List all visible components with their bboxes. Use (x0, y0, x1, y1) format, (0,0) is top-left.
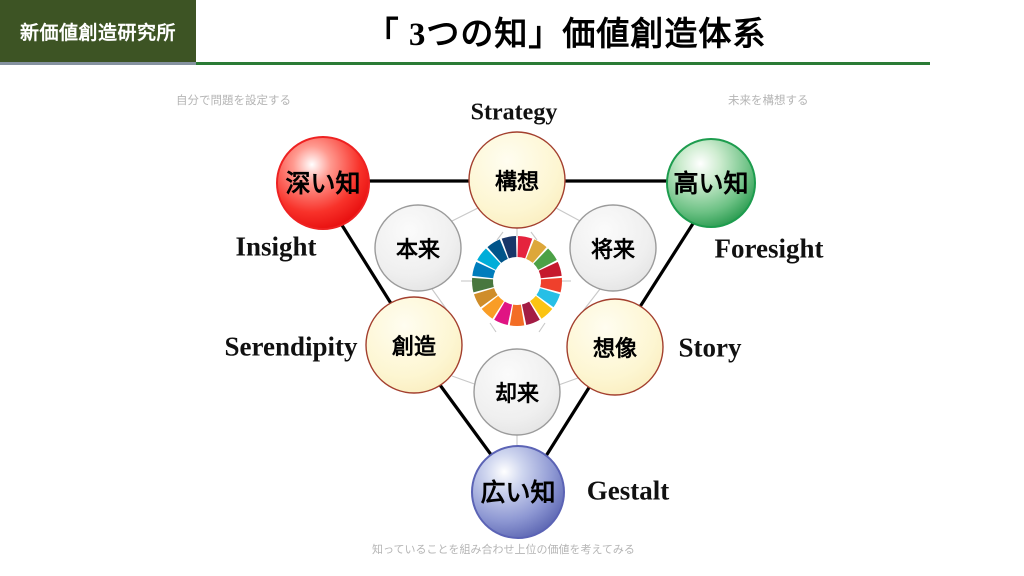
three-knowledge-diagram (0, 0, 1024, 576)
english-label-strategy: Strategy (471, 100, 558, 127)
english-label-insight: Insight (235, 232, 316, 263)
english-label-serendipity: Serendipity (224, 332, 357, 363)
english-label-story: Story (679, 333, 742, 364)
node-circle-insight[interactable] (277, 137, 369, 229)
node-circle-honrai[interactable] (375, 205, 461, 291)
english-label-foresight: Foresight (715, 234, 824, 265)
node-circle-kousou[interactable] (469, 132, 565, 228)
node-circle-gestalt[interactable] (472, 446, 564, 538)
node-circle-kyakurai[interactable] (474, 349, 560, 435)
node-circle-shourai[interactable] (570, 205, 656, 291)
inner-node-group (366, 132, 663, 435)
node-circle-foresight[interactable] (667, 139, 755, 227)
node-circle-souzou[interactable] (366, 297, 462, 393)
english-label-gestalt: Gestalt (587, 476, 669, 507)
sdgs-wheel-segment (510, 305, 525, 326)
node-circle-souzou2[interactable] (567, 299, 663, 395)
slide-canvas: 新価値創造研究所 「 3つの知」価値創造体系 自分で問題を設定する 未来を構想す… (0, 0, 1024, 576)
sdgs-wheel-icon (472, 236, 562, 326)
